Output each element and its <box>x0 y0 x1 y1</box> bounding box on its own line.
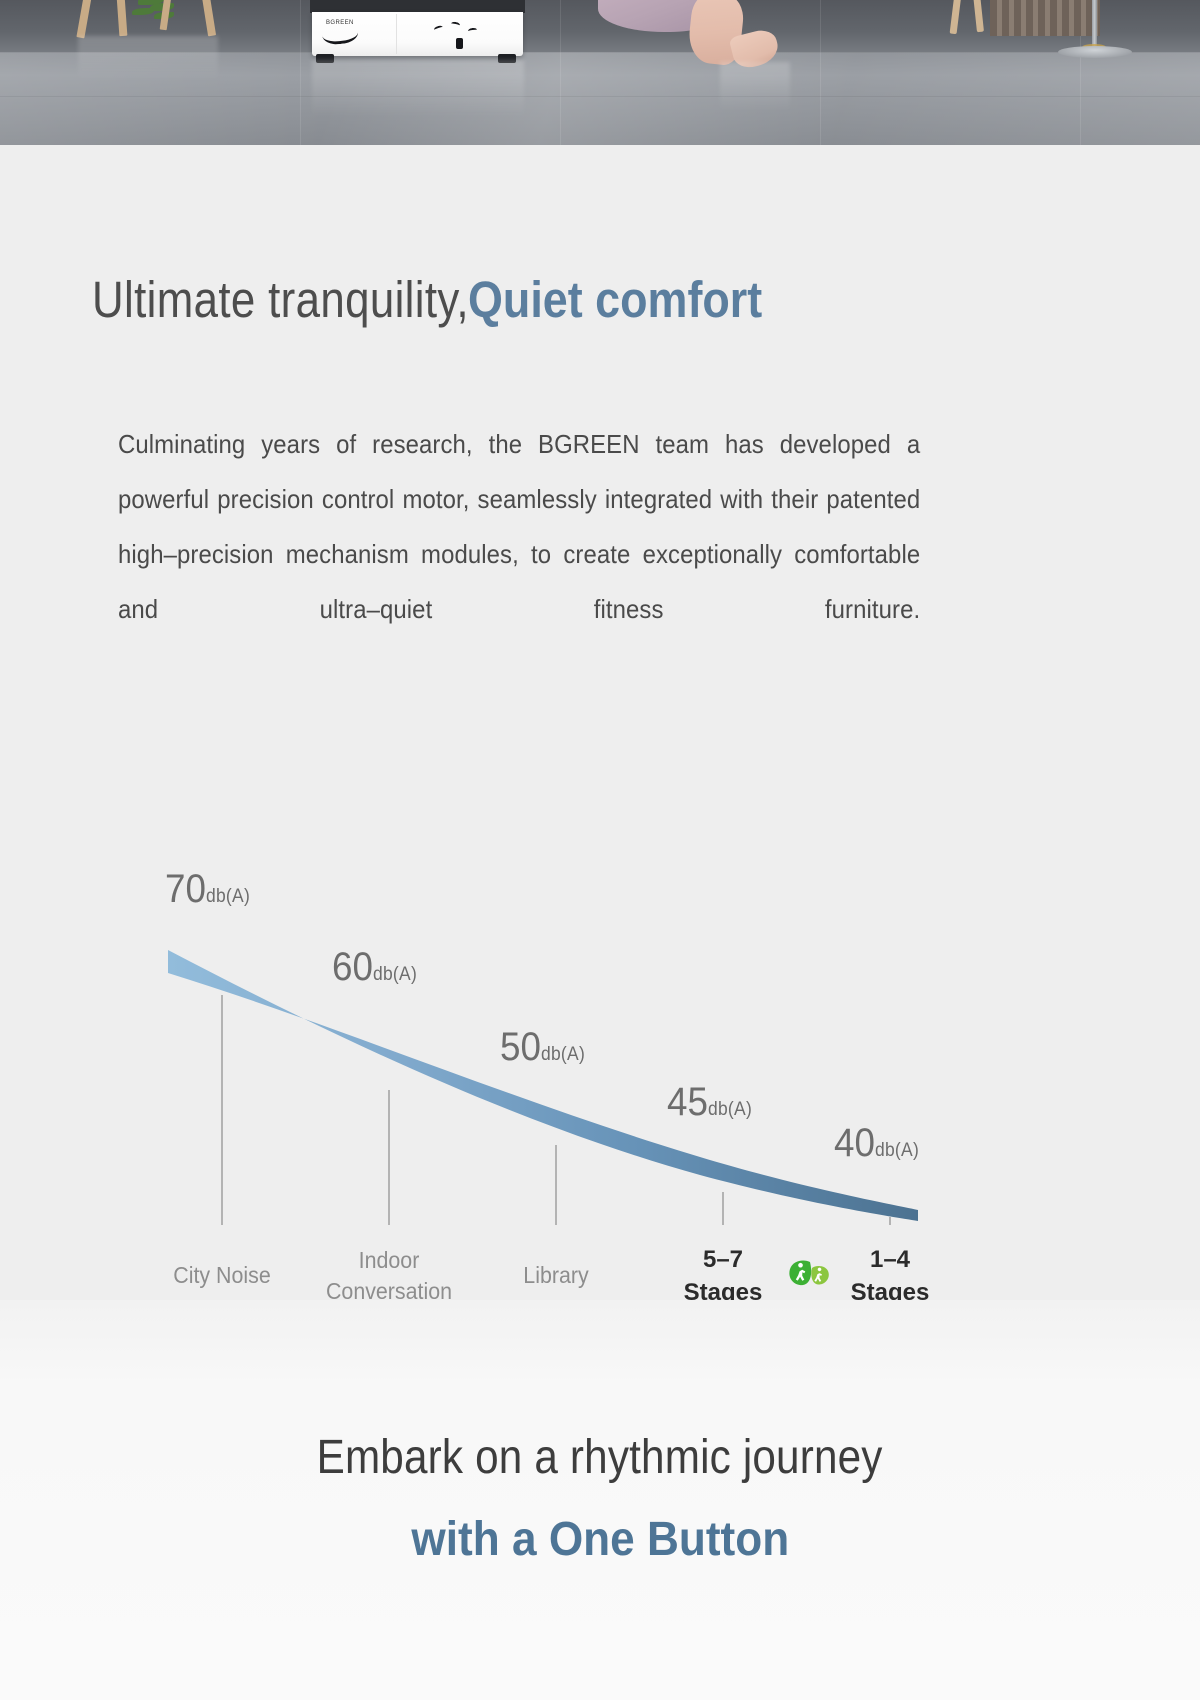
category-label-indoor-conversation: Indoor Conversation <box>305 1245 472 1307</box>
bottom-heading-line1: Embark on a rhythmic journey <box>0 1430 1200 1485</box>
floor-lamp-pole <box>1092 0 1097 50</box>
bgreen-leaf-logo-icon <box>786 1253 834 1293</box>
radiator <box>990 0 1100 36</box>
floor-lamp-base <box>1058 46 1132 58</box>
plant-icon <box>128 0 188 26</box>
product-brand-text: BGREEN <box>326 20 354 26</box>
headline-part2: Quiet comfort <box>468 270 762 329</box>
category-label-library: Library <box>472 1260 639 1291</box>
chart-svg <box>0 705 1200 1225</box>
quiet-comfort-section: Ultimate tranquility,Quiet comfort Culmi… <box>0 145 1200 1300</box>
stepper-machine: BGREEN <box>310 0 525 60</box>
ribbon-band <box>168 950 918 1221</box>
headline-part1: Ultimate tranquility, <box>92 270 469 329</box>
noise-level-chart: 70db(A) 60db(A) 50db(A) 45db(A) 40db(A) … <box>0 705 1200 1225</box>
bottom-heading-line2: with a One Button <box>0 1512 1200 1567</box>
one-button-section: Embark on a rhythmic journey with a One … <box>0 1300 1200 1700</box>
db-label-1: 60db(A) <box>332 945 417 990</box>
db-label-4: 40db(A) <box>834 1121 919 1166</box>
section-headline: Ultimate tranquility,Quiet comfort <box>92 270 1102 329</box>
db-label-0: 70db(A) <box>165 867 250 912</box>
db-label-3: 45db(A) <box>667 1080 752 1125</box>
category-label-city-noise: City Noise <box>138 1260 305 1291</box>
product-landing-page: BGREEN Ultimate tranquility,Quiet comfor… <box>0 0 1200 1700</box>
db-label-2: 50db(A) <box>500 1025 585 1070</box>
hero-photo: BGREEN <box>0 0 1200 145</box>
section-paragraph: Culminating years of research, the BGREE… <box>118 417 920 692</box>
